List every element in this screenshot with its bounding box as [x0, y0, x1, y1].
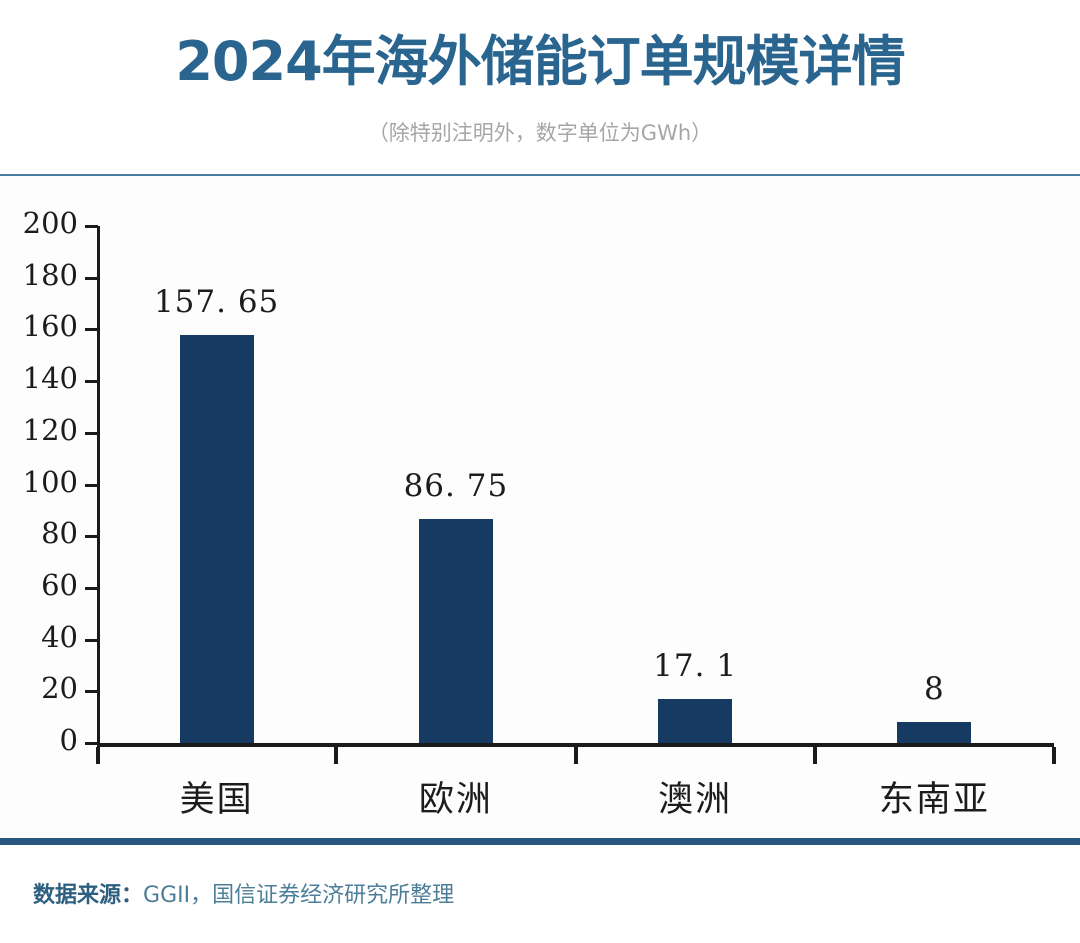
y-axis-tick: [85, 380, 98, 383]
y-axis-tick: [85, 484, 98, 487]
y-axis-tick: [85, 277, 98, 280]
x-axis-category-label: 美国: [107, 771, 327, 822]
y-axis-tick-label: 120: [0, 416, 78, 445]
y-axis-tick-label: 160: [0, 312, 78, 341]
chart-subtitle: （除特别注明外，数字单位为GWh）: [0, 117, 1080, 147]
bar-value-label: 157. 65: [107, 284, 327, 320]
chart-header: 2024年海外储能订单规模详情 （除特别注明外，数字单位为GWh）: [0, 0, 1080, 176]
y-axis-tick: [85, 225, 98, 228]
y-axis-tick: [85, 742, 98, 745]
y-axis-tick-label: 0: [0, 726, 78, 755]
y-axis-tick-label: 80: [0, 519, 78, 548]
x-axis-tick: [1052, 747, 1056, 764]
y-axis-tick-label: 180: [0, 261, 78, 290]
y-axis-tick-label: 40: [0, 623, 78, 652]
y-axis-tick-label: 100: [0, 468, 78, 497]
footer-divider: [0, 838, 1080, 845]
x-axis-tick: [334, 747, 338, 764]
bar-value-label: 86. 75: [346, 468, 566, 504]
chart-footer: 数据来源：GGII，国信证券经济研究所整理: [0, 845, 1080, 943]
chart-plot-area: 020406080100120140160180200 157. 6586. 7…: [0, 176, 1080, 838]
x-axis-tick: [96, 747, 100, 764]
x-axis-category-label: 欧洲: [346, 771, 566, 822]
x-axis-tick: [813, 747, 817, 764]
y-axis-tick: [85, 432, 98, 435]
y-axis-tick: [85, 587, 98, 590]
page-title: 2024年海外储能订单规模详情: [0, 30, 1080, 94]
y-axis-tick-label: 60: [0, 571, 78, 600]
y-axis-tick: [85, 639, 98, 642]
data-source-label: 数据来源：: [33, 883, 143, 908]
bar-value-label: 8: [824, 671, 1044, 707]
bar: [658, 699, 732, 743]
data-source: 数据来源：GGII，国信证券经济研究所整理: [33, 877, 454, 909]
x-axis-tick: [574, 747, 578, 764]
y-axis-tick-label: 20: [0, 674, 78, 703]
bar: [419, 519, 493, 743]
y-axis-tick: [85, 535, 98, 538]
y-axis-tick-label: 140: [0, 364, 78, 393]
y-axis-tick: [85, 690, 98, 693]
bar: [897, 722, 971, 743]
bar: [180, 335, 254, 743]
y-axis-tick: [85, 328, 98, 331]
y-axis-tick-label: 200: [0, 209, 78, 238]
x-axis-category-label: 东南亚: [824, 771, 1044, 822]
bar-value-label: 17. 1: [585, 648, 805, 684]
data-source-text: GGII，国信证券经济研究所整理: [143, 883, 454, 908]
x-axis-category-label: 澳洲: [585, 771, 805, 822]
